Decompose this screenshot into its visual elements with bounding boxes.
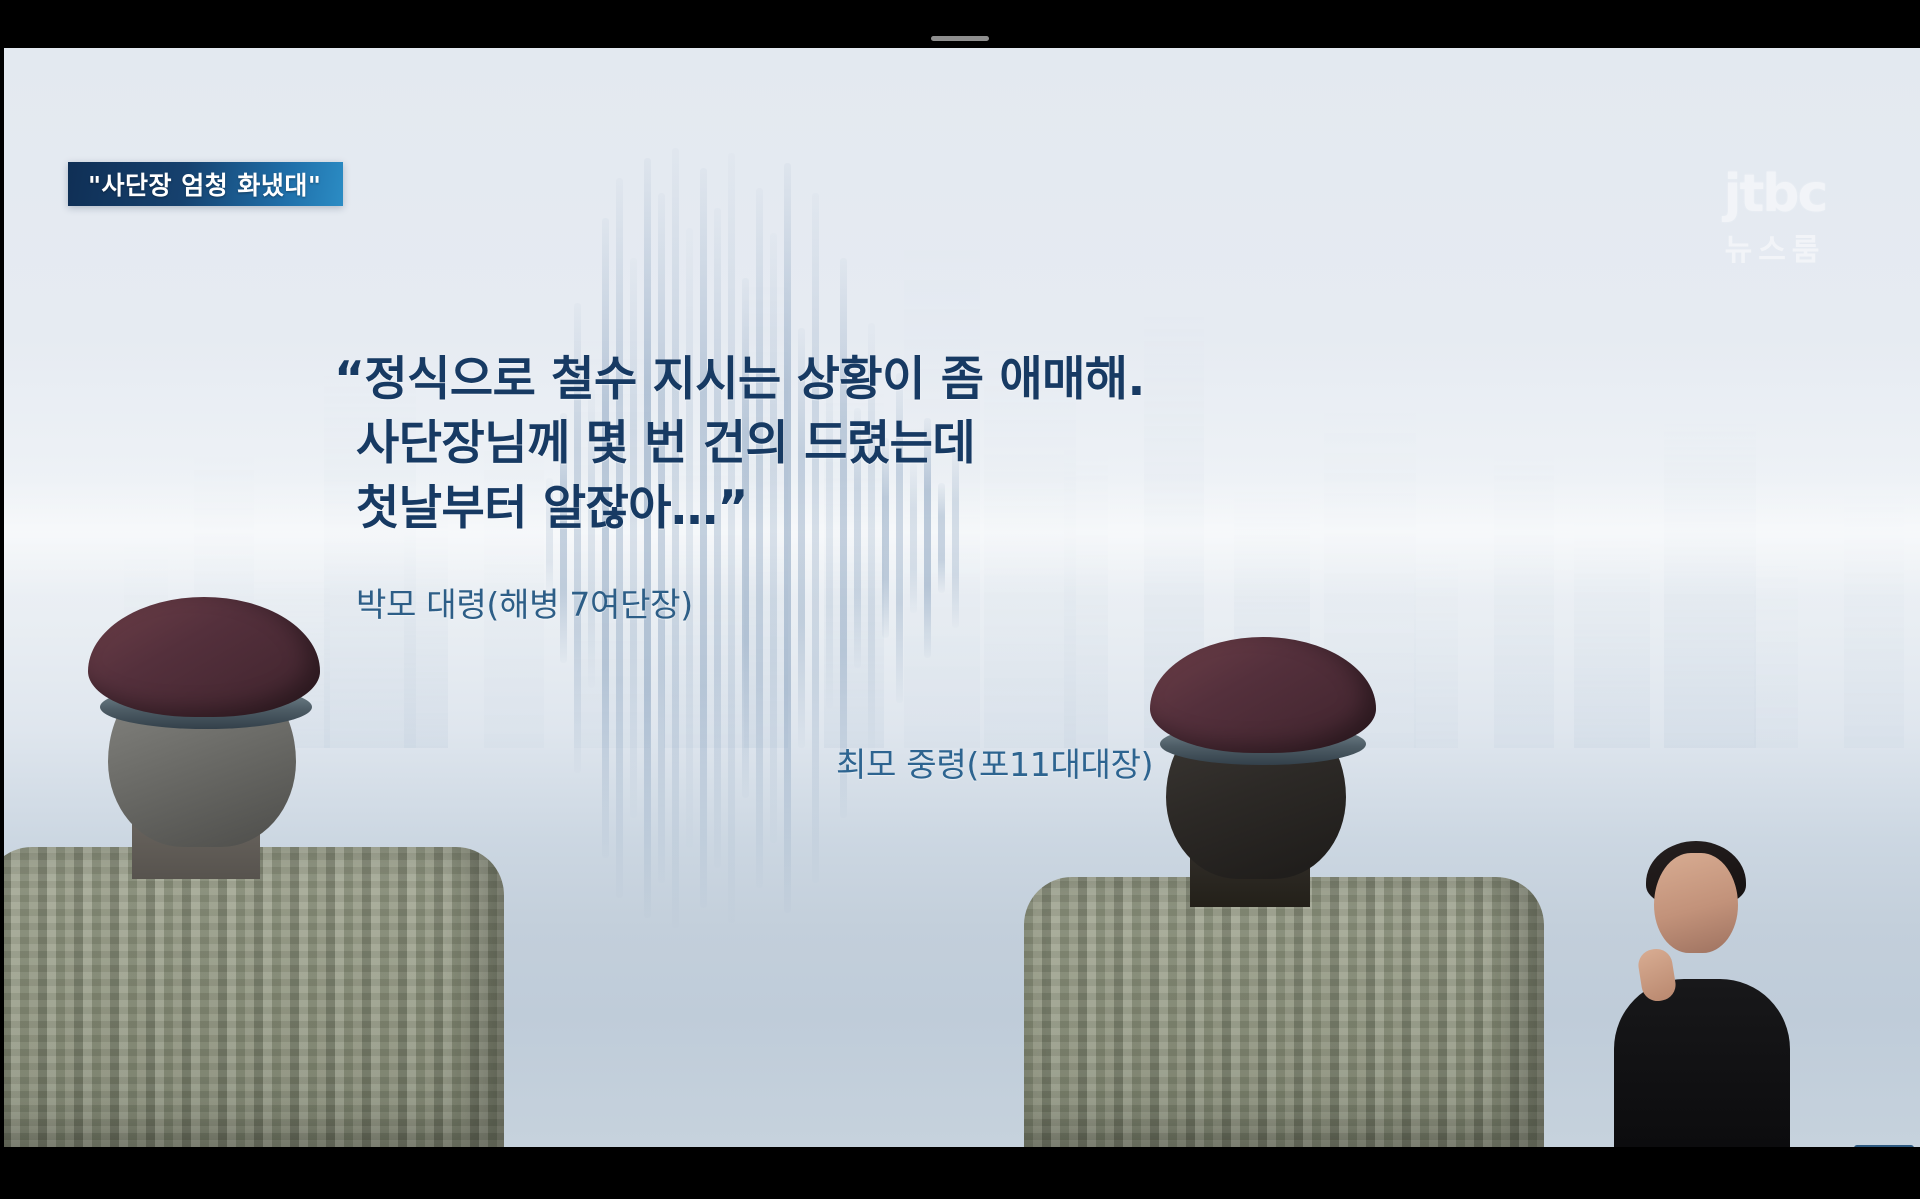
interpreter-body xyxy=(1614,979,1790,1147)
soldier-left-beret xyxy=(88,597,320,717)
quote-attribution-secondary: 최모 중령(포11대대장) xyxy=(836,738,1153,786)
channel-logo-bug: jtbc 뉴스룸 xyxy=(1686,170,1864,269)
news-title-banner-text: "사단장 엄청 화냈대" xyxy=(88,166,321,202)
letterbox-left-edge xyxy=(0,48,4,1147)
news-title-banner: "사단장 엄청 화냈대" xyxy=(68,162,343,206)
sign-language-interpreter xyxy=(1596,837,1808,1147)
soldier-figure-left xyxy=(4,587,504,1147)
player-bottom-bar xyxy=(0,1147,1920,1199)
channel-brand-label: jtbc xyxy=(1686,170,1864,219)
quote-line-2: 사단장님께 몇 번 건의 드렸는데 xyxy=(334,412,1394,476)
quote-line-3: 첫날부터 알잖아…” xyxy=(334,477,1394,541)
player-drag-handle[interactable] xyxy=(931,36,989,41)
quote-block: “정식으로 철수 지시는 상황이 좀 애매해. 사단장님께 몇 번 건의 드렸는… xyxy=(334,348,1394,541)
channel-program-label: 뉴스룸 xyxy=(1686,225,1864,269)
soldier-figure-right xyxy=(1024,627,1544,1147)
soldier-left-uniform xyxy=(4,847,504,1147)
quote-attribution-primary: 박모 대령(해병 7여단장) xyxy=(356,578,693,626)
quote-line-1: “정식으로 철수 지시는 상황이 좀 애매해. xyxy=(334,348,1394,412)
interpreter-head xyxy=(1654,853,1738,953)
soldier-right-beret xyxy=(1150,637,1376,753)
video-player-frame: "사단장 엄청 화냈대" jtbc 뉴스룸 “정식으로 철수 지시는 상황이 좀… xyxy=(0,0,1920,1199)
video-canvas[interactable]: "사단장 엄청 화냈대" jtbc 뉴스룸 “정식으로 철수 지시는 상황이 좀… xyxy=(4,48,1920,1147)
soldier-right-uniform xyxy=(1024,877,1544,1147)
